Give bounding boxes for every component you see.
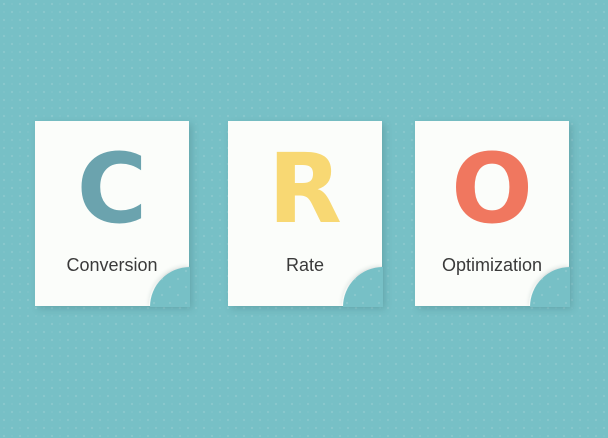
paper-card-conversion[interactable]: C Conversion xyxy=(35,121,189,306)
card-letter-c: C xyxy=(77,141,147,237)
paper-card-rate[interactable]: R Rate xyxy=(228,121,382,306)
card-label-rate: Rate xyxy=(286,255,324,276)
card-label-conversion: Conversion xyxy=(66,255,157,276)
paper-card-optimization[interactable]: O Optimization xyxy=(415,121,569,306)
page-corner-cut xyxy=(530,267,570,307)
card-label-optimization: Optimization xyxy=(442,255,542,276)
page-corner-cut xyxy=(150,267,190,307)
paper-card-group: C Conversion R Rate O Optimization xyxy=(0,0,608,438)
page-corner-cut xyxy=(343,267,383,307)
card-letter-o: O xyxy=(451,141,533,237)
illustration-canvas: C Conversion R Rate O Optimization xyxy=(0,0,608,438)
card-letter-r: R xyxy=(268,141,342,237)
